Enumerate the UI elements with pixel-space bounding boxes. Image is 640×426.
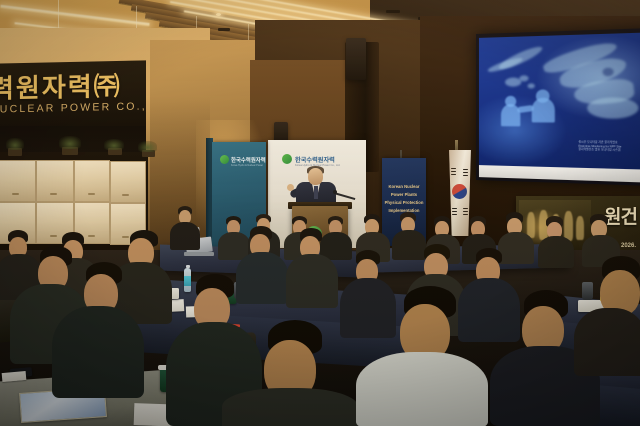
water-bottle[interactable] — [184, 268, 191, 292]
potted-plant — [138, 141, 157, 152]
speaker-hand — [287, 184, 294, 191]
navy-banner-line: Physical Protection — [382, 200, 426, 205]
cabinet-handle[interactable] — [122, 194, 129, 196]
poster-korean-title: 원건 — [604, 202, 637, 229]
microphone-icon — [333, 190, 337, 194]
navy-banner-line: Korean Nuclear — [382, 184, 426, 189]
laptop-base — [184, 252, 214, 256]
company-sign-english: NUCLEAR POWER CO., LTD — [0, 100, 146, 116]
screen-caption: 실시간 모니터링 기반 물리적방호 Real-time Monitoring f… — [578, 141, 640, 154]
ceiling-downlight — [216, 13, 221, 16]
cabinet-door[interactable] — [74, 160, 110, 202]
cabinet-handle[interactable] — [122, 236, 129, 238]
navy-banner-line: Power Plants — [382, 192, 426, 197]
av-speaker — [346, 38, 366, 80]
speaker-head — [308, 168, 323, 185]
cabinet-handle[interactable] — [50, 193, 57, 195]
cabinet-door[interactable] — [0, 160, 36, 202]
company-sign-korean: 력원자력㈜ — [0, 66, 122, 106]
travel-tumbler[interactable] — [582, 282, 593, 300]
ceiling-vent — [386, 10, 400, 13]
cabinet-handle[interactable] — [12, 193, 19, 195]
speaker-tie — [314, 186, 318, 199]
potted-plant — [104, 139, 124, 150]
company-sign: 력원자력㈜ NUCLEAR POWER CO., LTD — [0, 60, 146, 131]
khnp-logo-icon — [220, 155, 229, 164]
conference-photo: 력원자력㈜ NUCLEAR POWER CO., LTD — [0, 0, 640, 426]
potted-plant — [6, 138, 24, 150]
khnp-logo-icon — [282, 154, 292, 164]
projection-screen-image: 실시간 모니터링 기반 물리적방호 Real-time Monitoring f… — [479, 32, 640, 171]
cabinet-door[interactable] — [36, 160, 74, 202]
cabinet-handle[interactable] — [50, 235, 57, 237]
backdrop-korean-title: 한국수력원자력 — [295, 155, 335, 164]
ceiling-vent — [218, 28, 230, 31]
teal-banner-title: 한국수력원자력 — [231, 156, 266, 164]
cabinet-handle[interactable] — [88, 193, 95, 195]
cabinet-door[interactable] — [110, 161, 146, 203]
teal-banner-subtitle: Korea Hydro & Nuclear Power — [231, 164, 263, 167]
projection-screen: 실시간 모니터링 기반 물리적방호 Real-time Monitoring f… — [476, 28, 640, 186]
poster-date: 2026. — [621, 243, 636, 249]
cabinet-handle[interactable] — [88, 235, 95, 237]
potted-plant — [59, 136, 81, 149]
